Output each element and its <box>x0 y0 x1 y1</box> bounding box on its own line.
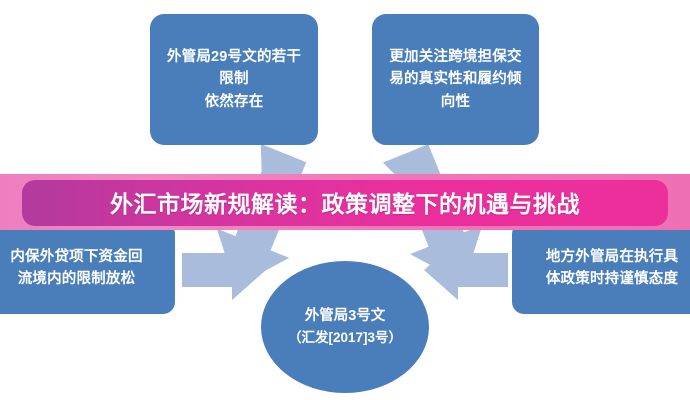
page-title: 外汇市场新规解读：政策调整下的机遇与挑战 <box>0 174 690 230</box>
arrow-from-mid-right-icon <box>424 240 508 300</box>
slide-canvas: 外管局3号文 （汇发[2017]3号） 外管局29号文的若干 限制 依然存在 更… <box>0 0 690 400</box>
center-node-subtitle: （汇发[2017]3号） <box>288 328 402 348</box>
node-top-left-label: 外管局29号文的若干 限制 依然存在 <box>150 46 318 113</box>
node-mid-left[interactable]: 内保外贷项下资金回 流境内的限制放松 <box>0 222 175 314</box>
node-top-left[interactable]: 外管局29号文的若干 限制 依然存在 <box>150 14 318 145</box>
node-mid-left-label: 内保外贷项下资金回 流境内的限制放松 <box>0 246 175 291</box>
node-top-right[interactable]: 更加关注跨境担保交 易的真实性和履约倾 向性 <box>372 14 539 145</box>
node-mid-right-label: 地方外管局在执行具 体政策时持谨慎态度 <box>512 246 690 291</box>
center-node-title: 外管局3号文 <box>305 306 386 328</box>
arrow-from-mid-left-icon <box>182 240 266 300</box>
center-node[interactable]: 外管局3号文 （汇发[2017]3号） <box>261 261 429 393</box>
node-mid-right[interactable]: 地方外管局在执行具 体政策时持谨慎态度 <box>512 222 690 314</box>
node-top-right-label: 更加关注跨境担保交 易的真实性和履约倾 向性 <box>372 46 539 113</box>
